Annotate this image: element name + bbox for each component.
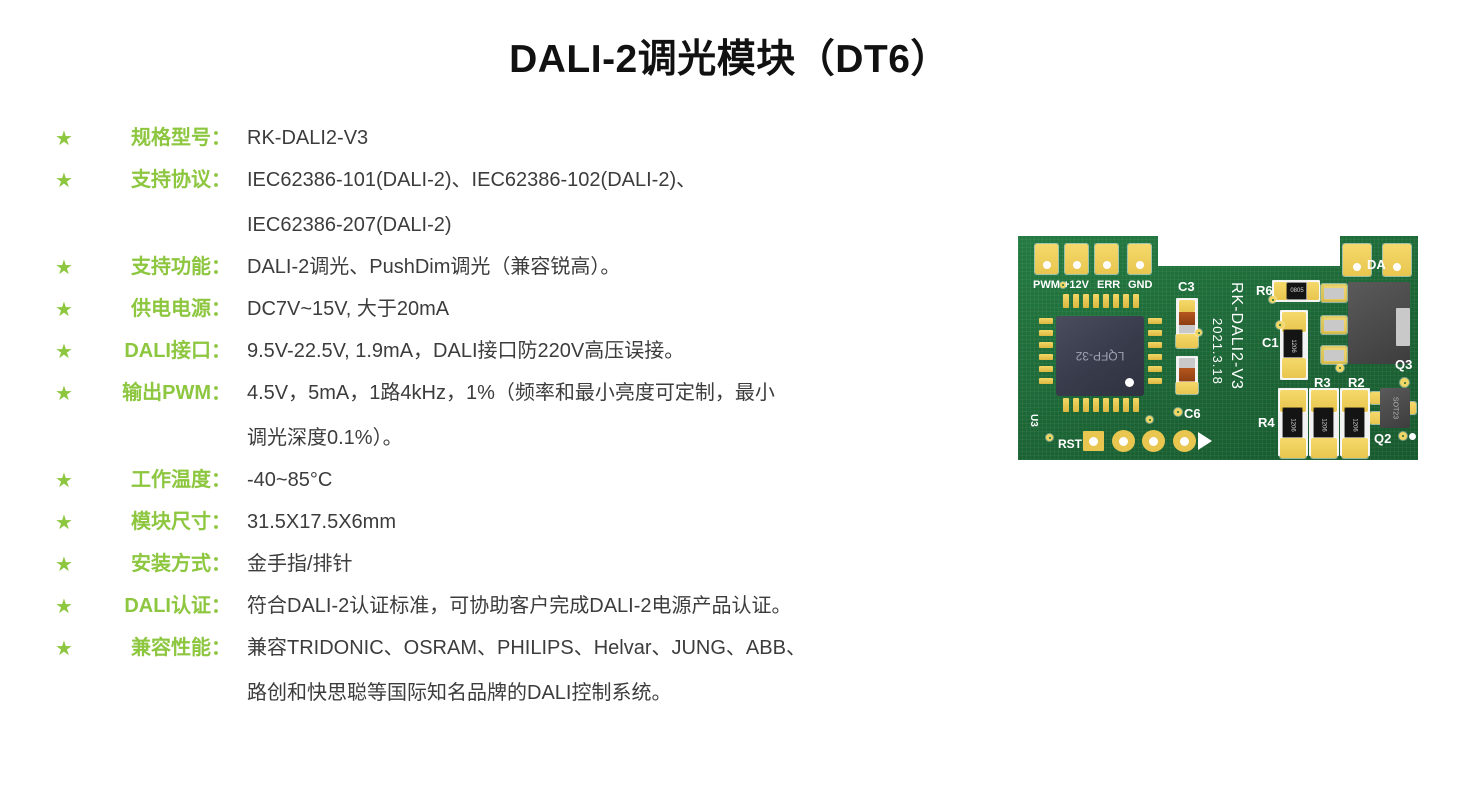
- pad-hole: [1136, 261, 1144, 269]
- pad-hole: [1043, 261, 1051, 269]
- spec-label: 安装方式：: [81, 549, 231, 580]
- spec-row: ★ 供电电源： DC7V~15V, 大于20mA: [55, 294, 1005, 325]
- star-icon: ★: [55, 337, 81, 367]
- star-icon: ★: [55, 295, 81, 325]
- q2-body: SOT23: [1380, 388, 1410, 428]
- spec-value-line: DALI-2调光、PushDim调光（兼容锐高）。: [247, 252, 1005, 283]
- chip-leg: [1063, 294, 1069, 308]
- spec-value: 4.5V，5mA，1路4kHz，1%（频率和最小亮度可定制，最小 调光深度0.1…: [247, 378, 1005, 454]
- polarity-triangle-icon: [1198, 432, 1212, 450]
- chip-leg: [1093, 398, 1099, 412]
- chip-leg: [1113, 294, 1119, 308]
- star-icon: ★: [55, 466, 81, 496]
- via: [1399, 432, 1407, 440]
- cap-marking: 1206: [1277, 337, 1309, 355]
- spec-row: ★ 规格型号： RK-DALI2-V3: [55, 123, 1005, 154]
- spec-label: 支持功能：: [81, 252, 231, 283]
- chip-leg: [1039, 354, 1053, 360]
- chip-leg: [1113, 398, 1119, 412]
- spec-row: ★ 输出PWM： 4.5V，5mA，1路4kHz，1%（频率和最小亮度可定制，最…: [55, 378, 1005, 454]
- spec-label: 供电电源：: [81, 294, 231, 325]
- spec-label: 模块尺寸：: [81, 507, 231, 538]
- silk-da: DA: [1367, 258, 1386, 271]
- spec-value-line: 路创和快思聪等国际知名品牌的DALI控制系统。: [247, 678, 1005, 709]
- chip-leg: [1103, 294, 1109, 308]
- silk-pwm: PWM: [1033, 280, 1060, 291]
- mcu-chip: LQFP-32: [1056, 316, 1144, 396]
- spec-value: 兼容TRIDONIC、OSRAM、PHILIPS、Helvar、JUNG、ABB…: [247, 633, 1005, 709]
- pad-hole: [1073, 261, 1081, 269]
- cap-c6-bot-pad: [1176, 382, 1198, 394]
- via: [1276, 321, 1284, 329]
- chip-leg: [1148, 318, 1162, 324]
- test-pad-round-3: [1173, 430, 1196, 452]
- via: [1195, 329, 1202, 336]
- cap-c6-top-pad: [1179, 358, 1195, 368]
- silk-r4: R4: [1258, 416, 1275, 429]
- product-spec-page: DALI-2调光模块（DT6） ★ 规格型号： RK-DALI2-V3 ★ 支持…: [0, 0, 1459, 792]
- spec-value: DALI-2调光、PushDim调光（兼容锐高）。: [247, 252, 1005, 283]
- spec-value-line: -40~85°C: [247, 465, 1005, 496]
- res-r2-body: 1206: [1345, 408, 1364, 442]
- chip-leg: [1093, 294, 1099, 308]
- spec-label: 支持协议：: [81, 165, 231, 196]
- test-pad-square: [1083, 431, 1104, 451]
- res-r6-right-pad: [1307, 282, 1319, 300]
- pad-err: [1095, 244, 1118, 274]
- res-marking: 1206: [1338, 416, 1372, 435]
- res-r6-body: 0805: [1287, 283, 1307, 299]
- spec-row: ★ 支持协议： IEC62386-101(DALI-2)、IEC62386-10…: [55, 165, 1005, 241]
- star-icon: ★: [55, 592, 81, 622]
- cap-c3-top-pad: [1179, 300, 1195, 312]
- spec-value-line: 31.5X17.5X6mm: [247, 507, 1005, 538]
- product-pcb-image: PWM +12V ERR GND DA: [1018, 236, 1418, 460]
- spec-row: ★ 工作温度： -40~85°C: [55, 465, 1005, 496]
- res-r3-bot-pad: [1311, 438, 1337, 458]
- star-icon: ★: [55, 166, 81, 196]
- pad-12v: [1065, 244, 1088, 274]
- chip-marking: LQFP-32: [1076, 350, 1125, 362]
- spec-value: 金手指/排针: [247, 549, 1005, 580]
- silk-q3: Q3: [1395, 358, 1412, 371]
- res-r6-left-pad: [1274, 282, 1287, 300]
- spec-row: ★ 兼容性能： 兼容TRIDONIC、OSRAM、PHILIPS、Helvar、…: [55, 633, 1005, 709]
- q3-lead-2: [1324, 320, 1344, 331]
- res-marking: 0805: [1287, 283, 1307, 299]
- spec-value: RK-DALI2-V3: [247, 123, 1005, 154]
- spec-value: 符合DALI-2认证标准，可协助客户完成DALI-2电源产品认证。: [247, 591, 1005, 622]
- chip-leg: [1083, 294, 1089, 308]
- q2-marking: SOT23: [1392, 397, 1399, 419]
- silk-12v: +12V: [1063, 280, 1089, 291]
- cap-c1-bot-pad: [1282, 358, 1306, 378]
- via: [1174, 408, 1182, 416]
- pad-da-right: [1383, 244, 1411, 276]
- spec-value: 9.5V-22.5V, 1.9mA，DALI接口防220V高压误接。: [247, 336, 1005, 367]
- star-icon: ★: [55, 634, 81, 664]
- chip-leg: [1148, 378, 1162, 384]
- spec-value-line: 4.5V，5mA，1路4kHz，1%（频率和最小亮度可定制，最小: [247, 378, 1005, 409]
- silk-c3: C3: [1178, 280, 1195, 293]
- silk-u3: U3: [1028, 414, 1038, 427]
- chip-leg: [1073, 398, 1079, 412]
- res-marking: 1206: [1276, 416, 1310, 435]
- star-icon: ★: [55, 550, 81, 580]
- page-title: DALI-2调光模块（DT6）: [0, 28, 1459, 84]
- silk-c6: C6: [1184, 407, 1201, 420]
- chip-leg: [1148, 330, 1162, 336]
- silk-r6: R6: [1256, 284, 1273, 297]
- spec-value-line: IEC62386-207(DALI-2): [247, 210, 1005, 241]
- spec-row: ★ DALI接口： 9.5V-22.5V, 1.9mA，DALI接口防220V高…: [55, 336, 1005, 367]
- spec-label: DALI认证：: [81, 591, 231, 622]
- spec-value-line: 调光深度0.1%）。: [247, 423, 1005, 454]
- spec-value-line: RK-DALI2-V3: [247, 123, 1005, 154]
- chip-leg: [1039, 366, 1053, 372]
- spec-value-line: 兼容TRIDONIC、OSRAM、PHILIPS、Helvar、JUNG、ABB…: [247, 633, 1005, 664]
- chip-leg: [1133, 398, 1139, 412]
- spec-value-line: DC7V~15V, 大于20mA: [247, 294, 1005, 325]
- cap-c3-bot-pad: [1179, 325, 1195, 334]
- spec-value: IEC62386-101(DALI-2)、IEC62386-102(DALI-2…: [247, 165, 1005, 241]
- cap-c6-body: [1179, 368, 1195, 382]
- spec-value-line: 符合DALI-2认证标准，可协助客户完成DALI-2电源产品认证。: [247, 591, 1005, 622]
- via: [1336, 364, 1344, 372]
- spec-label: 规格型号：: [81, 123, 231, 154]
- chip-leg: [1039, 330, 1053, 336]
- pad-hole: [1393, 263, 1401, 271]
- chip-leg: [1148, 342, 1162, 348]
- spec-label: 输出PWM：: [81, 378, 231, 409]
- test-pad-round-2: [1142, 430, 1165, 452]
- res-r4-body: 1206: [1283, 408, 1302, 442]
- q3-side-tab: [1396, 308, 1410, 346]
- chip-leg: [1148, 354, 1162, 360]
- silk-q2: Q2: [1374, 432, 1391, 445]
- via: [1400, 378, 1409, 387]
- spec-label: DALI接口：: [81, 336, 231, 367]
- chip-leg: [1083, 398, 1089, 412]
- chip-leg: [1123, 294, 1129, 308]
- chip-pin1-dot: [1125, 378, 1134, 387]
- chip-leg: [1039, 342, 1053, 348]
- star-icon: ★: [55, 379, 81, 409]
- silk-err: ERR: [1097, 280, 1120, 291]
- spec-row: ★ 模块尺寸： 31.5X17.5X6mm: [55, 507, 1005, 538]
- cap-c3-lower-pad: [1176, 334, 1198, 348]
- silk-gnd: GND: [1128, 280, 1152, 291]
- chip-leg: [1063, 398, 1069, 412]
- pad-gnd: [1128, 244, 1151, 274]
- chip-leg: [1103, 398, 1109, 412]
- cap-c1-top-pad: [1282, 312, 1306, 332]
- pcb-top-notch: [1158, 236, 1340, 266]
- star-icon: ★: [55, 124, 81, 154]
- chip-leg: [1039, 378, 1053, 384]
- pad-hole: [1103, 261, 1111, 269]
- via: [1060, 282, 1066, 288]
- spec-label: 兼容性能：: [81, 633, 231, 664]
- q3-lead-1: [1324, 288, 1344, 299]
- chip-leg: [1039, 318, 1053, 324]
- silk-rst: RST: [1058, 438, 1082, 450]
- test-pad-round-1: [1112, 430, 1135, 452]
- res-r2-bot-pad: [1342, 438, 1368, 458]
- chip-leg: [1123, 398, 1129, 412]
- spec-row: ★ 安装方式： 金手指/排针: [55, 549, 1005, 580]
- pad-hole: [1409, 433, 1416, 440]
- spec-value: -40~85°C: [247, 465, 1005, 496]
- q3-lead-3: [1324, 350, 1344, 361]
- star-icon: ★: [55, 508, 81, 538]
- spec-row: ★ DALI认证： 符合DALI-2认证标准，可协助客户完成DALI-2电源产品…: [55, 591, 1005, 622]
- spec-value-line: IEC62386-101(DALI-2)、IEC62386-102(DALI-2…: [247, 165, 1005, 196]
- res-r3-body: 1206: [1314, 408, 1333, 442]
- silk-board-name: RK-DALI2-V3: [1228, 282, 1244, 390]
- chip-leg: [1148, 366, 1162, 372]
- spec-label: 工作温度：: [81, 465, 231, 496]
- spec-value: 31.5X17.5X6mm: [247, 507, 1005, 538]
- chip-leg: [1073, 294, 1079, 308]
- pad-pwm: [1035, 244, 1058, 274]
- res-marking: 1206: [1307, 416, 1341, 435]
- pad-hole: [1353, 263, 1361, 271]
- star-icon: ★: [55, 253, 81, 283]
- spec-value: DC7V~15V, 大于20mA: [247, 294, 1005, 325]
- via: [1146, 416, 1153, 423]
- via: [1269, 296, 1276, 303]
- silk-board-date: 2021.3.18: [1211, 318, 1224, 385]
- spec-value-line: 9.5V-22.5V, 1.9mA，DALI接口防220V高压误接。: [247, 336, 1005, 367]
- spec-value-line: 金手指/排针: [247, 549, 1005, 580]
- spec-row: ★ 支持功能： DALI-2调光、PushDim调光（兼容锐高）。: [55, 252, 1005, 283]
- chip-leg: [1133, 294, 1139, 308]
- res-r4-bot-pad: [1280, 438, 1306, 458]
- spec-list: ★ 规格型号： RK-DALI2-V3 ★ 支持协议： IEC62386-101…: [55, 123, 1005, 720]
- cap-c3-body: [1179, 312, 1195, 325]
- via: [1046, 434, 1053, 441]
